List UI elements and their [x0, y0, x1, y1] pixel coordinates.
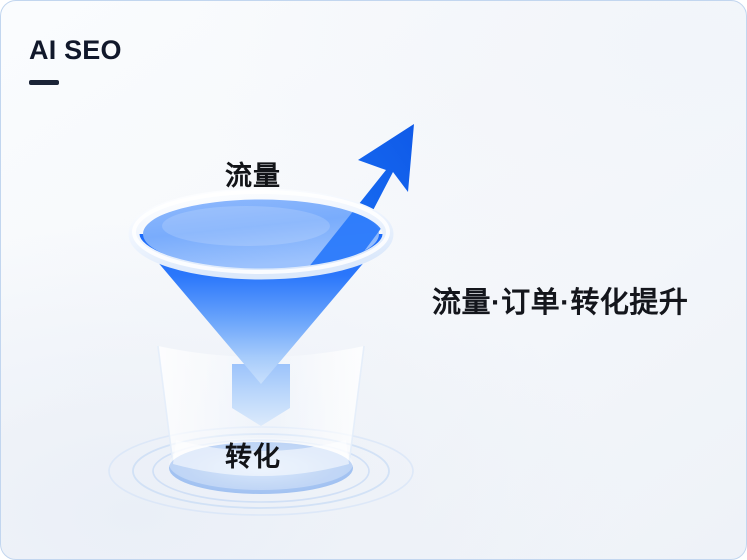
funnel-label-traffic: 流量 [225, 154, 281, 193]
title-underline-accent [29, 80, 59, 85]
page-title: AI SEO [29, 37, 122, 64]
poster-canvas: AI SEO 流量·订单·转化提升 [0, 0, 747, 560]
title-block: AI SEO [29, 37, 122, 85]
funnel-label-conversion: 转化 [225, 435, 281, 474]
tagline-text: 流量·订单·转化提升 [432, 279, 688, 321]
